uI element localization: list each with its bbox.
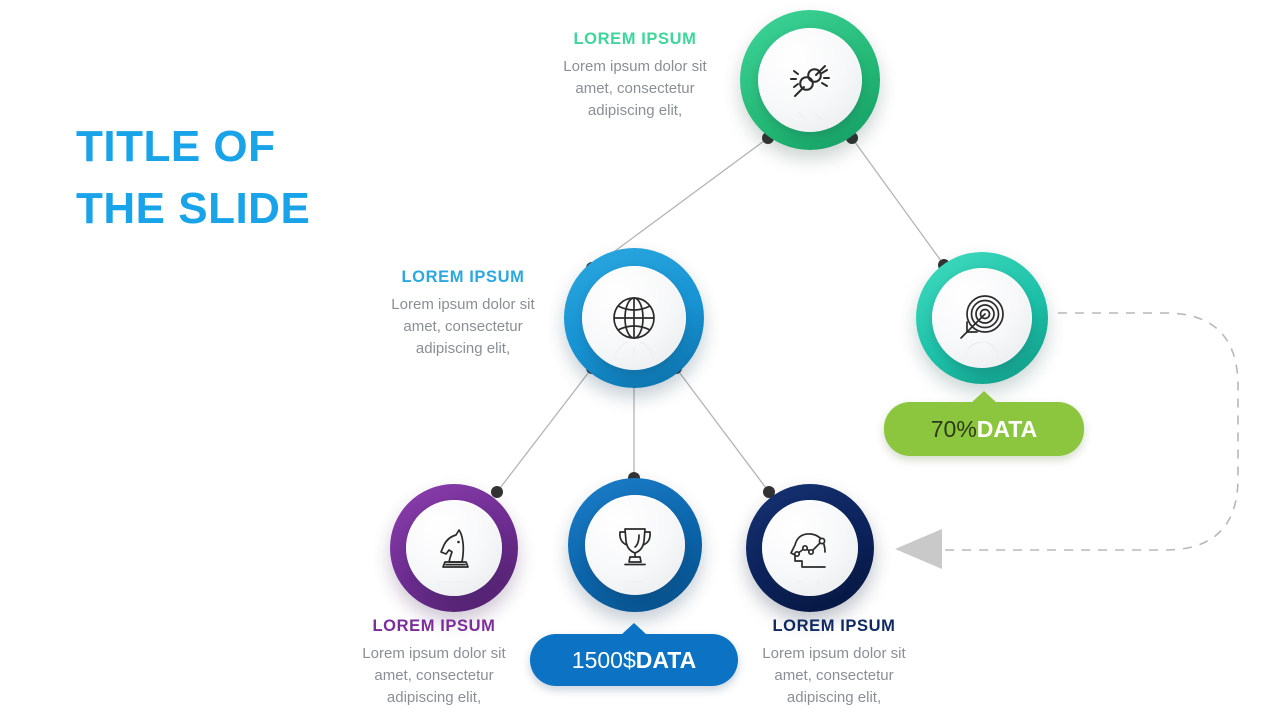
node-target[interactable] — [916, 252, 1048, 384]
chess-knight-icon — [429, 523, 479, 573]
heading-strategy: LOREM IPSUM — [330, 617, 538, 636]
icon-reflection — [790, 106, 830, 126]
flow-arrowhead — [895, 529, 942, 569]
page-title: TITLE OF THE SLIDE — [76, 116, 406, 241]
badge-percent-number: 70% — [931, 416, 977, 443]
icon-reflection — [434, 572, 474, 590]
badge-amount-label: DATA — [636, 647, 696, 674]
icon-reflection — [611, 342, 657, 364]
trophy-icon — [609, 519, 661, 571]
body-global: Lorem ipsum dolor sit amet, consectetur … — [358, 294, 568, 359]
broken-chain-icon — [782, 52, 838, 108]
badge-amount-number: 1500$ — [572, 647, 636, 674]
icon-reflection — [790, 572, 830, 590]
badge-amount-tip — [621, 623, 647, 635]
badge-amount[interactable]: 1500$ DATA — [530, 634, 738, 686]
head-analytics-icon — [784, 522, 836, 574]
textblock-strategy: LOREM IPSUM Lorem ipsum dolor sit amet, … — [330, 617, 538, 708]
node-strategy[interactable] — [390, 484, 518, 612]
heading-disruption: LOREM IPSUM — [530, 30, 740, 49]
badge-percent-label: DATA — [977, 416, 1037, 443]
body-strategy: Lorem ipsum dolor sit amet, consectetur … — [330, 643, 538, 708]
connector-green-to-teal — [852, 138, 944, 265]
body-insight: Lorem ipsum dolor sit amet, consectetur … — [730, 643, 938, 708]
connector-green-to-blue — [592, 138, 768, 268]
node-global[interactable] — [564, 248, 704, 388]
connector-blue-to-purple — [497, 368, 592, 492]
badge-percent[interactable]: 70% DATA — [884, 402, 1084, 456]
heading-insight: LOREM IPSUM — [730, 617, 938, 636]
connector-blue-to-navy — [676, 368, 769, 492]
target-arrow-icon — [955, 291, 1009, 345]
heading-global: LOREM IPSUM — [358, 268, 568, 287]
icon-reflection — [615, 571, 655, 589]
body-disruption: Lorem ipsum dolor sit amet, consectetur … — [530, 56, 740, 121]
icon-reflection — [960, 342, 1004, 362]
textblock-insight: LOREM IPSUM Lorem ipsum dolor sit amet, … — [730, 617, 938, 708]
badge-percent-tip — [971, 391, 997, 403]
node-achievement[interactable] — [568, 478, 702, 612]
globe-icon — [607, 291, 661, 345]
textblock-disruption: LOREM IPSUM Lorem ipsum dolor sit amet, … — [530, 30, 740, 121]
node-disruption[interactable] — [740, 10, 880, 150]
node-insight[interactable] — [746, 484, 874, 612]
infographic-slide: TITLE OF THE SLIDE — [0, 0, 1280, 720]
textblock-global: LOREM IPSUM Lorem ipsum dolor sit amet, … — [358, 268, 568, 359]
